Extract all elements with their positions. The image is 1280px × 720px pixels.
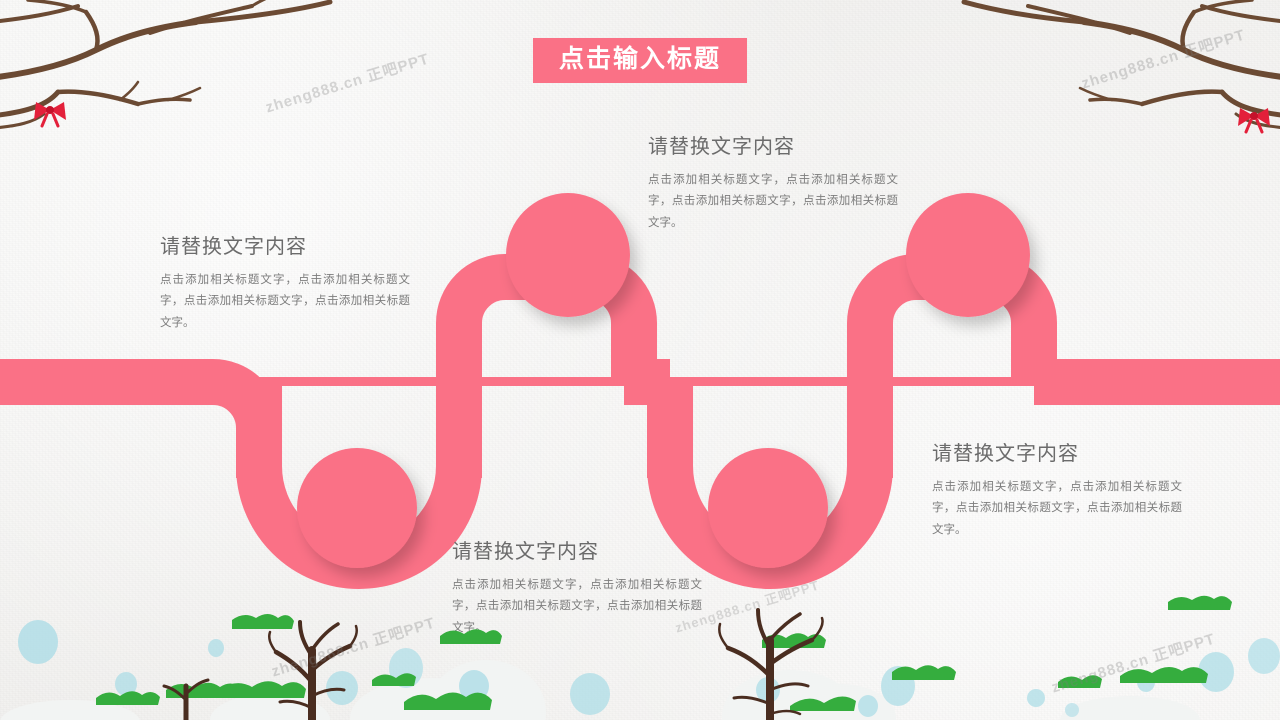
text-block-left-body: 点击添加相关标题文字，点击添加相关标题文字，点击添加相关标题文字，点击添加相关标…	[160, 270, 410, 334]
ribbon-left-tail	[0, 382, 259, 470]
text-block-top[interactable]: 请替换文字内容 点击添加相关标题文字，点击添加相关标题文字，点击添加相关标题文字…	[648, 130, 898, 234]
text-block-right[interactable]: 请替换文字内容 点击添加相关标题文字，点击添加相关标题文字，点击添加相关标题文字…	[932, 437, 1182, 541]
node-top-right	[906, 193, 1030, 317]
page-title[interactable]: 点击输入标题	[533, 38, 747, 83]
slide-canvas: 请替换文字内容 点击添加相关标题文字，点击添加相关标题文字，点击添加相关标题文字…	[0, 0, 1280, 720]
text-block-right-heading: 请替换文字内容	[932, 437, 1182, 466]
node-bottom-center	[708, 448, 828, 568]
text-block-bottom-heading: 请替换文字内容	[452, 535, 702, 564]
bottom-winter-scene	[0, 590, 1280, 720]
node-bottom-left	[297, 448, 417, 568]
text-block-left[interactable]: 请替换文字内容 点击添加相关标题文字，点击添加相关标题文字，点击添加相关标题文字…	[160, 230, 410, 334]
node-top-center	[506, 193, 630, 317]
text-block-top-body: 点击添加相关标题文字，点击添加相关标题文字，点击添加相关标题文字，点击添加相关标…	[648, 170, 898, 234]
text-block-right-body: 点击添加相关标题文字，点击添加相关标题文字，点击添加相关标题文字，点击添加相关标…	[932, 477, 1182, 541]
text-block-top-heading: 请替换文字内容	[648, 130, 898, 159]
page-title-text: 点击输入标题	[559, 47, 721, 72]
grass-tufts	[96, 596, 1232, 711]
text-block-left-heading: 请替换文字内容	[160, 230, 410, 259]
